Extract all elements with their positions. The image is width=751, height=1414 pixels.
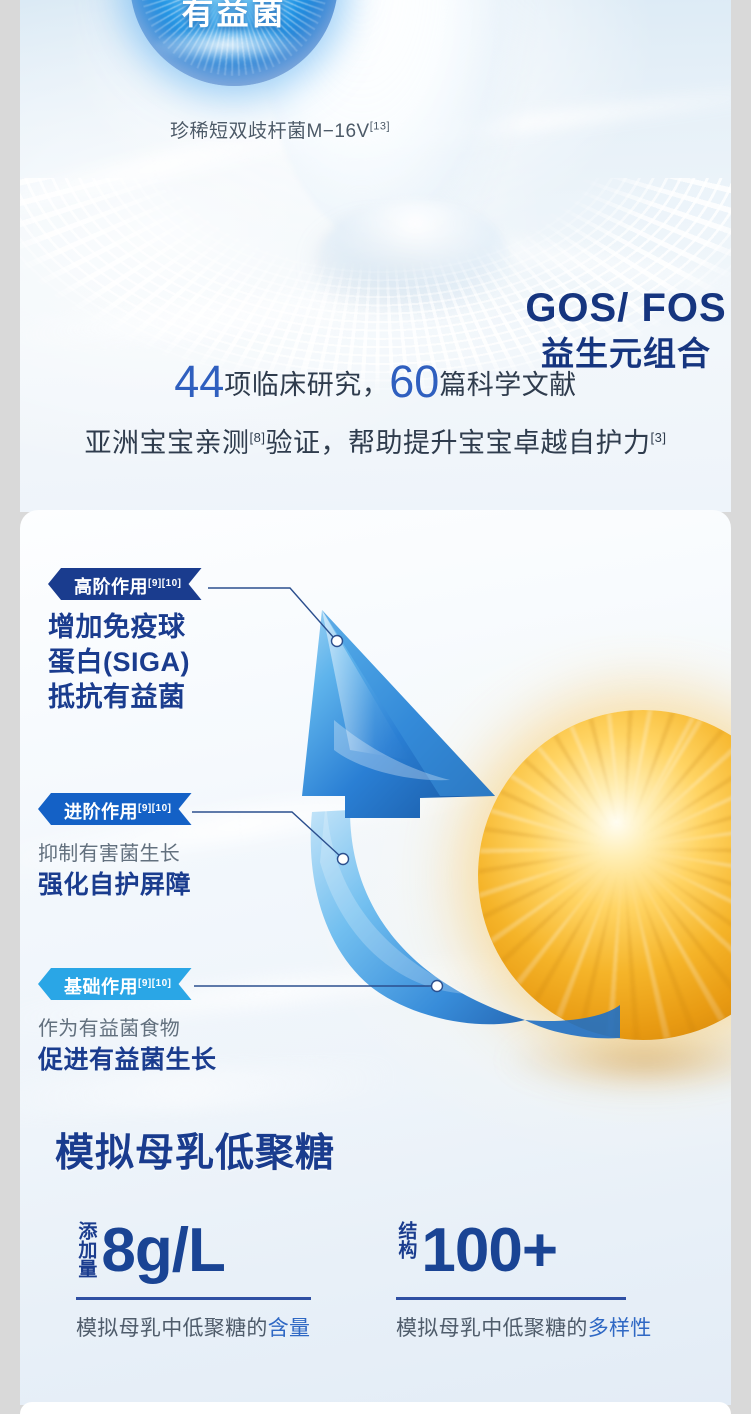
callout-sub-text: 作为有益菌食物 [38,1012,217,1041]
headline-text-studies: 项临床研究， [224,370,389,400]
probiotic-strain-ref: [13] [370,121,390,133]
stat-vertical-label: 结构 [396,1221,415,1283]
stat-caption-highlight: 含量 [268,1317,311,1340]
callout-tag-advanced: 高阶作用[9][10] [48,568,202,600]
headline-number-studies: 44 [174,356,224,407]
headline-ref-3: [3] [651,430,667,445]
callout-tag-ref: [9][10] [138,978,172,989]
stat-value: 100+ [421,1220,557,1282]
stat-caption-highlight: 多样性 [588,1317,652,1340]
probiotic-orb-label: 有益菌 [138,0,330,34]
stat-vertical-label: 添加量 [76,1221,95,1283]
stat-caption-prefix: 模拟母乳中低聚糖的 [76,1317,268,1340]
stat-value: 8g/L [101,1220,224,1282]
next-section-card [20,1402,731,1414]
callout-tag-basic: 基础作用[9][10] [38,968,192,1000]
callout-tag-ref: [9][10] [138,803,172,814]
headline-line-2: 亚洲宝宝亲测[8]验证，帮助提升宝宝卓越自护力[3] [20,421,731,460]
headline-number-papers: 60 [389,356,439,407]
stat-caption: 模拟母乳中低聚糖的多样性 [396,1312,696,1342]
headline-line2-part-a: 亚洲宝宝亲测 [85,428,250,458]
callout-basic-effect: 基础作用[9][10] 作为有益菌食物 促进有益菌生长 [38,968,217,1076]
headline-text-papers: 篇科学文献 [439,370,577,400]
probiotic-strain-caption: 珍稀短双歧杆菌M−16V[13] [20,116,540,143]
stat-row: 结构 100+ [396,1218,696,1283]
callout-tag-label: 基础作用 [64,977,138,997]
stat-caption-prefix: 模拟母乳中低聚糖的 [396,1317,588,1340]
stat-block-structure: 结构 100+ 模拟母乳中低聚糖的多样性 [396,1218,696,1342]
callout-tag-label: 进阶作用 [64,802,138,822]
gold-orb-label: GOS/ FOS 益生元组合 [476,287,751,372]
stat-row: 添加量 8g/L [76,1218,366,1283]
headline-line2-part-b: 验证，帮助提升宝宝卓越自护力 [266,428,651,458]
callout-main-text: 增加免疫球蛋白(SIGA)抵抗有益菌 [48,610,202,715]
hero-section: 有益菌 珍稀短双歧杆菌M−16V[13] 44项临床研究，60篇科学文献 亚洲宝… [20,0,731,512]
gold-orb-title: GOS/ FOS [476,287,751,329]
callout-main-text: 强化自护屏障 [38,869,192,901]
callout-intermediate-effect: 进阶作用[9][10] 抑制有害菌生长 强化自护屏障 [38,793,192,901]
callout-advanced-effect: 高阶作用[9][10] 增加免疫球蛋白(SIGA)抵抗有益菌 [48,568,202,715]
headline-ref-8: [8] [250,430,266,445]
callout-tag-intermediate: 进阶作用[9][10] [38,793,192,825]
product-detail-page: 有益菌 珍稀短双歧杆菌M−16V[13] 44项临床研究，60篇科学文献 亚洲宝… [0,0,751,1414]
upward-arrow-icon [290,600,620,1040]
stat-divider [76,1297,311,1300]
probiotic-orb-gloss-decor [148,28,323,70]
callout-tag-ref: [9][10] [148,578,182,589]
callout-sub-text: 抑制有害菌生长 [38,837,192,866]
stat-block-dosage: 添加量 8g/L 模拟母乳中低聚糖的含量 [76,1218,366,1342]
callout-main-text: 促进有益菌生长 [38,1044,217,1076]
callout-tag-label: 高阶作用 [74,577,148,597]
stats-section-title: 模拟母乳低聚糖 [55,1122,335,1178]
stat-divider [396,1297,626,1300]
stat-caption: 模拟母乳中低聚糖的含量 [76,1312,366,1342]
probiotic-strain-name: 珍稀短双歧杆菌M−16V [170,121,370,142]
gold-orb-subtitle: 益生元组合 [476,336,751,372]
